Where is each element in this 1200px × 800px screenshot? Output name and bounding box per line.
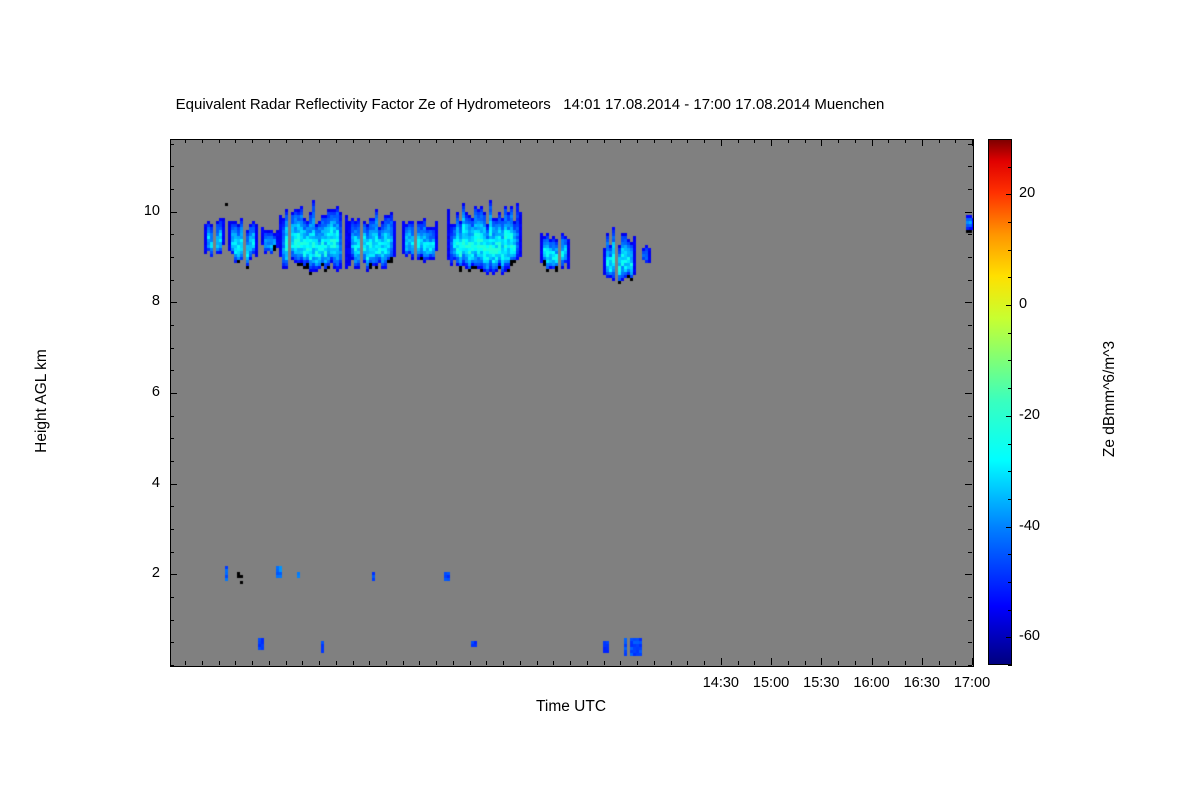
y-axis-minor-tick <box>170 416 174 417</box>
x-axis-minor-tick <box>805 139 806 143</box>
x-axis-minor-tick <box>286 661 287 665</box>
x-axis-major-tick <box>972 139 973 146</box>
y-axis-minor-tick <box>968 348 972 349</box>
y-axis-minor-tick <box>968 529 972 530</box>
colorbar-minor-tick <box>1008 333 1012 334</box>
y-axis-minor-tick <box>170 665 174 666</box>
y-axis-minor-tick <box>170 438 174 439</box>
x-axis-minor-tick <box>503 139 504 143</box>
colorbar-major-tick <box>1006 527 1012 528</box>
y-axis-tick-label: 10 <box>120 203 160 219</box>
x-axis-minor-tick <box>269 661 270 665</box>
y-axis-label: Height AGL km <box>33 301 51 501</box>
y-axis-minor-tick <box>968 665 972 666</box>
x-axis-minor-tick <box>202 139 203 143</box>
x-axis-minor-tick <box>604 139 605 143</box>
x-axis-minor-tick <box>235 661 236 665</box>
colorbar-tick-label: -20 <box>1019 407 1040 423</box>
y-axis-minor-tick <box>170 529 174 530</box>
y-axis-minor-tick <box>968 144 972 145</box>
colorbar-minor-tick <box>1008 499 1012 500</box>
colorbar-minor-tick <box>1008 444 1012 445</box>
y-axis-minor-tick <box>968 552 972 553</box>
x-axis-minor-tick <box>520 661 521 665</box>
y-axis-major-tick <box>170 393 177 394</box>
y-axis-minor-tick <box>968 166 972 167</box>
x-axis-minor-tick <box>537 661 538 665</box>
x-axis-major-tick <box>922 139 923 146</box>
y-axis-minor-tick <box>968 642 972 643</box>
y-axis-major-tick <box>170 574 177 575</box>
y-axis-tick-label: 4 <box>120 475 160 491</box>
y-axis-minor-tick <box>170 597 174 598</box>
colorbar-minor-tick <box>1008 139 1012 140</box>
x-axis-minor-tick <box>687 139 688 143</box>
x-axis-major-tick <box>821 139 822 146</box>
x-axis-minor-tick <box>185 139 186 143</box>
y-axis-minor-tick <box>170 642 174 643</box>
x-axis-major-tick <box>872 658 873 665</box>
x-axis-minor-tick <box>620 139 621 143</box>
colorbar-minor-tick <box>1008 277 1012 278</box>
y-axis-major-tick <box>965 484 972 485</box>
x-axis-label: Time UTC <box>170 698 972 716</box>
x-axis-minor-tick <box>671 661 672 665</box>
y-axis-minor-tick <box>968 461 972 462</box>
x-axis-major-tick <box>872 139 873 146</box>
x-axis-minor-tick <box>587 139 588 143</box>
x-axis-minor-tick <box>319 661 320 665</box>
y-axis-major-tick <box>170 212 177 213</box>
x-axis-minor-tick <box>855 661 856 665</box>
x-axis-minor-tick <box>687 661 688 665</box>
colorbar-major-tick <box>1006 194 1012 195</box>
y-axis-major-tick <box>965 212 972 213</box>
x-axis-minor-tick <box>386 139 387 143</box>
x-axis-minor-tick <box>704 661 705 665</box>
x-axis-minor-tick <box>319 139 320 143</box>
x-axis-minor-tick <box>369 661 370 665</box>
reflectivity-heatmap-canvas <box>171 140 973 666</box>
y-axis-minor-tick <box>968 620 972 621</box>
y-axis-minor-tick <box>968 597 972 598</box>
x-axis-minor-tick <box>419 661 420 665</box>
y-axis-minor-tick <box>170 552 174 553</box>
y-axis-major-tick <box>170 484 177 485</box>
x-axis-major-tick <box>972 658 973 665</box>
x-axis-minor-tick <box>671 139 672 143</box>
y-axis-minor-tick <box>170 234 174 235</box>
x-axis-minor-tick <box>939 661 940 665</box>
y-axis-minor-tick <box>170 144 174 145</box>
y-axis-minor-tick <box>170 280 174 281</box>
y-axis-minor-tick <box>170 325 174 326</box>
y-axis-minor-tick <box>170 506 174 507</box>
x-axis-major-tick <box>721 658 722 665</box>
x-axis-major-tick <box>771 139 772 146</box>
x-axis-minor-tick <box>403 139 404 143</box>
colorbar-minor-tick <box>1008 222 1012 223</box>
x-axis-minor-tick <box>754 661 755 665</box>
x-axis-minor-tick <box>453 139 454 143</box>
x-axis-minor-tick <box>754 139 755 143</box>
y-axis-minor-tick <box>968 280 972 281</box>
x-axis-minor-tick <box>620 661 621 665</box>
y-axis-minor-tick <box>170 189 174 190</box>
y-axis-minor-tick <box>968 189 972 190</box>
x-axis-minor-tick <box>436 661 437 665</box>
colorbar-label: Ze dBmm^6/m^3 <box>1101 269 1119 529</box>
x-axis-minor-tick <box>553 661 554 665</box>
x-axis-minor-tick <box>403 661 404 665</box>
colorbar-minor-tick <box>1008 582 1012 583</box>
radar-reflectivity-figure: Equivalent Radar Reflectivity Factor Ze … <box>0 0 1200 800</box>
colorbar <box>988 139 1012 665</box>
y-axis-minor-tick <box>170 370 174 371</box>
x-axis-minor-tick <box>888 139 889 143</box>
x-axis-minor-tick <box>369 139 370 143</box>
colorbar-minor-tick <box>1008 360 1012 361</box>
x-axis-minor-tick <box>286 139 287 143</box>
y-axis-minor-tick <box>968 438 972 439</box>
x-axis-major-tick <box>721 139 722 146</box>
colorbar-major-tick <box>1006 416 1012 417</box>
x-axis-minor-tick <box>704 139 705 143</box>
x-axis-minor-tick <box>235 139 236 143</box>
x-axis-minor-tick <box>788 139 789 143</box>
x-axis-minor-tick <box>838 139 839 143</box>
x-axis-minor-tick <box>537 139 538 143</box>
x-axis-minor-tick <box>520 139 521 143</box>
y-axis-tick-label: 2 <box>120 565 160 581</box>
x-axis-minor-tick <box>219 139 220 143</box>
x-axis-minor-tick <box>570 661 571 665</box>
x-axis-minor-tick <box>185 661 186 665</box>
colorbar-major-tick <box>1006 305 1012 306</box>
colorbar-minor-tick <box>1008 554 1012 555</box>
x-axis-minor-tick <box>888 661 889 665</box>
x-axis-minor-tick <box>637 661 638 665</box>
x-axis-minor-tick <box>570 139 571 143</box>
y-axis-minor-tick <box>170 620 174 621</box>
x-axis-minor-tick <box>336 661 337 665</box>
x-axis-minor-tick <box>252 661 253 665</box>
colorbar-minor-tick <box>1008 167 1012 168</box>
x-axis-minor-tick <box>855 139 856 143</box>
x-axis-minor-tick <box>654 661 655 665</box>
y-axis-minor-tick <box>170 166 174 167</box>
y-axis-tick-label: 6 <box>120 384 160 400</box>
y-axis-minor-tick <box>968 234 972 235</box>
colorbar-minor-tick <box>1008 471 1012 472</box>
x-axis-minor-tick <box>955 139 956 143</box>
x-axis-minor-tick <box>939 139 940 143</box>
y-axis-tick-label: 8 <box>120 293 160 309</box>
y-axis-minor-tick <box>170 348 174 349</box>
x-axis-minor-tick <box>838 661 839 665</box>
x-axis-minor-tick <box>202 661 203 665</box>
x-axis-minor-tick <box>336 139 337 143</box>
x-axis-minor-tick <box>470 139 471 143</box>
x-axis-minor-tick <box>436 139 437 143</box>
x-axis-tick-label: 17:00 <box>932 675 1012 691</box>
plot-area <box>170 139 974 667</box>
x-axis-minor-tick <box>302 661 303 665</box>
y-axis-minor-tick <box>170 257 174 258</box>
y-axis-major-tick <box>170 302 177 303</box>
x-axis-minor-tick <box>587 661 588 665</box>
colorbar-tick-label: 0 <box>1019 296 1027 312</box>
x-axis-minor-tick <box>738 661 739 665</box>
x-axis-minor-tick <box>269 139 270 143</box>
x-axis-minor-tick <box>386 661 387 665</box>
x-axis-minor-tick <box>955 661 956 665</box>
y-axis-major-tick <box>965 574 972 575</box>
x-axis-minor-tick <box>453 661 454 665</box>
x-axis-minor-tick <box>905 139 906 143</box>
x-axis-minor-tick <box>219 661 220 665</box>
x-axis-major-tick <box>771 658 772 665</box>
x-axis-minor-tick <box>637 139 638 143</box>
x-axis-minor-tick <box>302 139 303 143</box>
colorbar-tick-label: -60 <box>1019 628 1040 644</box>
page-title: Equivalent Radar Reflectivity Factor Ze … <box>0 96 1060 113</box>
y-axis-minor-tick <box>968 506 972 507</box>
y-axis-minor-tick <box>968 325 972 326</box>
colorbar-minor-tick <box>1008 610 1012 611</box>
colorbar-minor-tick <box>1008 665 1012 666</box>
x-axis-minor-tick <box>353 139 354 143</box>
colorbar-minor-tick <box>1008 250 1012 251</box>
x-axis-minor-tick <box>486 661 487 665</box>
x-axis-major-tick <box>922 658 923 665</box>
y-axis-minor-tick <box>968 257 972 258</box>
colorbar-gradient <box>988 139 1012 665</box>
x-axis-minor-tick <box>788 661 789 665</box>
y-axis-major-tick <box>965 302 972 303</box>
x-axis-minor-tick <box>470 661 471 665</box>
x-axis-minor-tick <box>419 139 420 143</box>
x-axis-minor-tick <box>503 661 504 665</box>
x-axis-minor-tick <box>738 139 739 143</box>
y-axis-major-tick <box>965 393 972 394</box>
colorbar-tick-label: -40 <box>1019 518 1040 534</box>
y-axis-minor-tick <box>170 461 174 462</box>
x-axis-minor-tick <box>654 139 655 143</box>
colorbar-minor-tick <box>1008 388 1012 389</box>
y-axis-minor-tick <box>968 416 972 417</box>
colorbar-tick-label: 20 <box>1019 185 1035 201</box>
x-axis-major-tick <box>821 658 822 665</box>
x-axis-minor-tick <box>805 661 806 665</box>
x-axis-minor-tick <box>905 661 906 665</box>
y-axis-minor-tick <box>968 370 972 371</box>
x-axis-minor-tick <box>553 139 554 143</box>
x-axis-minor-tick <box>486 139 487 143</box>
x-axis-minor-tick <box>604 661 605 665</box>
colorbar-major-tick <box>1006 637 1012 638</box>
x-axis-minor-tick <box>252 139 253 143</box>
x-axis-minor-tick <box>353 661 354 665</box>
